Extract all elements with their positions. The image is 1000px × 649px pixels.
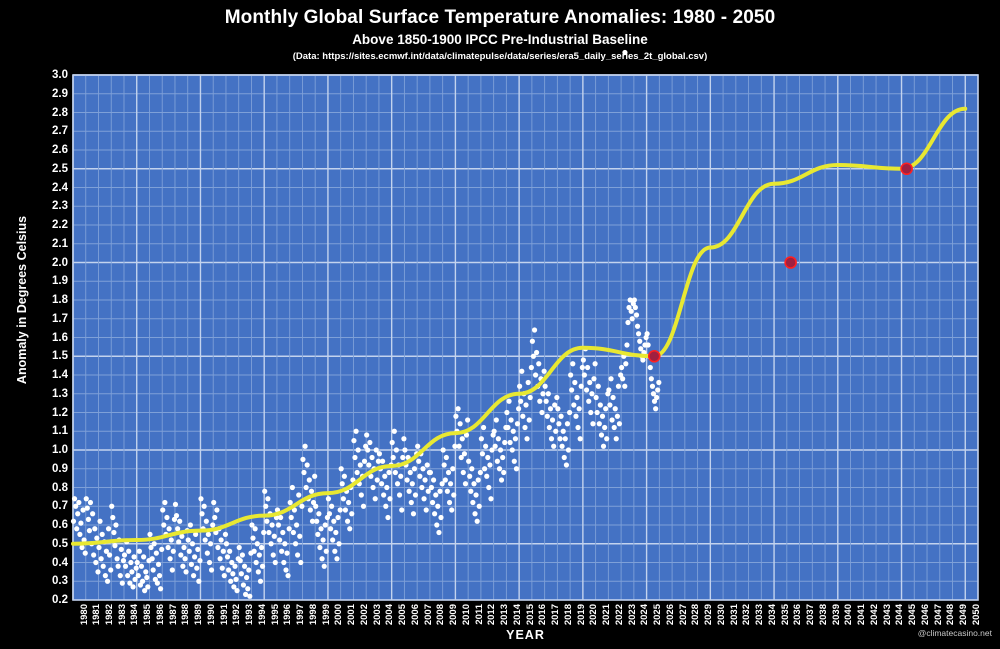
y-tick-label: 1.7	[28, 313, 68, 325]
y-tick-label: 0.6	[28, 519, 68, 531]
x-tick-label: 1981	[91, 604, 102, 625]
x-tick-label: 1991	[219, 604, 230, 625]
x-tick-label: 2044	[894, 604, 905, 625]
x-tick-label: 1988	[180, 604, 191, 625]
x-tick-label: 2006	[410, 604, 421, 625]
y-tick-label: 0.8	[28, 482, 68, 494]
x-tick-label: 1984	[129, 604, 140, 625]
y-tick-label: 1.4	[28, 369, 68, 381]
x-tick-label: 2042	[869, 604, 880, 625]
x-tick-label: 2030	[716, 604, 727, 625]
y-tick-label: 2.3	[28, 200, 68, 212]
x-tick-label: 2028	[690, 604, 701, 625]
chart-title: Monthly Global Surface Temperature Anoma…	[0, 6, 1000, 30]
x-tick-label: 2018	[563, 604, 574, 625]
y-tick-label: 0.2	[28, 594, 68, 606]
x-tick-label: 1987	[168, 604, 179, 625]
x-tick-label: 2011	[474, 604, 485, 625]
x-tick-label: 1986	[155, 604, 166, 625]
x-tick-label: 1997	[295, 604, 306, 625]
y-tick-label: 0.3	[28, 575, 68, 587]
x-tick-label: 2047	[933, 604, 944, 625]
y-tick-label: 2.9	[28, 88, 68, 100]
x-tick-label: 2032	[741, 604, 752, 625]
y-tick-label: 1.3	[28, 388, 68, 400]
y-tick-label: 3.0	[28, 69, 68, 81]
x-tick-label: 1996	[282, 604, 293, 625]
x-tick-label: 2008	[435, 604, 446, 625]
x-tick-label: 2045	[907, 604, 918, 625]
x-tick-label: 2014	[512, 604, 523, 625]
x-tick-label: 2000	[333, 604, 344, 625]
y-tick-label: 0.5	[28, 538, 68, 550]
y-tick-label: 2.8	[28, 107, 68, 119]
y-tick-label: 0.4	[28, 557, 68, 569]
x-tick-label: 2033	[754, 604, 765, 625]
y-tick-label: 0.7	[28, 500, 68, 512]
data-layer	[73, 75, 978, 600]
x-tick-label: 2017	[550, 604, 561, 625]
x-tick-label: 2004	[384, 604, 395, 625]
x-tick-label: 2005	[397, 604, 408, 625]
x-tick-label: 2002	[359, 604, 370, 625]
x-tick-label: 2001	[346, 604, 357, 625]
y-tick-label: 2.6	[28, 144, 68, 156]
x-tick-label: 1994	[257, 604, 268, 625]
x-tick-label: 2026	[665, 604, 676, 625]
x-tick-label: 2019	[576, 604, 587, 625]
x-tick-label: 2021	[601, 604, 612, 625]
x-tick-label: 2049	[958, 604, 969, 625]
x-tick-label: 2038	[818, 604, 829, 625]
y-tick-label: 2.1	[28, 238, 68, 250]
x-tick-label: 2050	[971, 604, 982, 625]
x-tick-label: 2016	[537, 604, 548, 625]
chart-subtitle: Above 1850-1900 IPCC Pre-Industrial Base…	[0, 31, 1000, 49]
x-tick-label: 1983	[117, 604, 128, 625]
x-tick-label: 1992	[231, 604, 242, 625]
x-tick-label: 1995	[270, 604, 281, 625]
y-tick-label: 1.9	[28, 275, 68, 287]
x-tick-label: 2048	[945, 604, 956, 625]
x-tick-label: 2023	[627, 604, 638, 625]
chart-source-note: (Data: https://sites.ecmwf.int/data/clim…	[0, 50, 1000, 64]
x-tick-label: 1980	[79, 604, 90, 625]
x-tick-label: 2046	[920, 604, 931, 625]
y-tick-label: 2.4	[28, 182, 68, 194]
x-tick-label: 1982	[104, 604, 115, 625]
threshold-2-5c	[901, 163, 912, 174]
x-tick-label: 2031	[729, 604, 740, 625]
title-block: Monthly Global Surface Temperature Anoma…	[0, 6, 1000, 64]
y-tick-label: 1.5	[28, 350, 68, 362]
x-tick-label: 2013	[499, 604, 510, 625]
y-tick-label: 2.2	[28, 219, 68, 231]
x-tick-label: 1998	[308, 604, 319, 625]
x-tick-label: 1989	[193, 604, 204, 625]
x-tick-label: 2003	[372, 604, 383, 625]
x-axis-title: YEAR	[73, 628, 978, 642]
plot-area	[73, 75, 978, 600]
threshold-2-0c	[785, 257, 796, 268]
y-tick-label: 1.2	[28, 407, 68, 419]
x-tick-label: 2015	[525, 604, 536, 625]
y-axis-tick-labels: 0.20.30.40.50.60.70.80.91.01.11.21.31.41…	[20, 75, 68, 600]
x-tick-label: 1985	[142, 604, 153, 625]
x-tick-label: 2035	[780, 604, 791, 625]
y-tick-label: 2.0	[28, 257, 68, 269]
chart-figure: Monthly Global Surface Temperature Anoma…	[0, 0, 1000, 649]
watermark: @climatecasino.net	[918, 628, 992, 638]
y-tick-label: 1.8	[28, 294, 68, 306]
x-tick-label: 2025	[652, 604, 663, 625]
x-tick-label: 2041	[856, 604, 867, 625]
x-tick-label: 2007	[423, 604, 434, 625]
x-tick-label: 2009	[448, 604, 459, 625]
x-tick-label: 2037	[805, 604, 816, 625]
y-tick-label: 1.1	[28, 425, 68, 437]
threshold-1-5c	[649, 351, 660, 362]
x-tick-label: 2039	[831, 604, 842, 625]
y-tick-label: 2.7	[28, 125, 68, 137]
x-tick-label: 2036	[792, 604, 803, 625]
x-tick-label: 2040	[843, 604, 854, 625]
x-tick-label: 2027	[678, 604, 689, 625]
x-axis-tick-labels: 1980198119821983198419851986198719881989…	[73, 604, 978, 628]
x-tick-label: 2012	[486, 604, 497, 625]
x-tick-label: 1990	[206, 604, 217, 625]
y-tick-label: 1.0	[28, 444, 68, 456]
x-tick-label: 2034	[767, 604, 778, 625]
x-tick-label: 2024	[639, 604, 650, 625]
x-tick-label: 2010	[461, 604, 472, 625]
x-tick-label: 1993	[244, 604, 255, 625]
x-tick-label: 1999	[321, 604, 332, 625]
y-tick-label: 1.6	[28, 332, 68, 344]
x-tick-label: 2029	[703, 604, 714, 625]
x-tick-label: 2043	[882, 604, 893, 625]
y-tick-label: 2.5	[28, 163, 68, 175]
x-tick-label: 2022	[614, 604, 625, 625]
x-tick-label: 2020	[588, 604, 599, 625]
y-tick-label: 0.9	[28, 463, 68, 475]
